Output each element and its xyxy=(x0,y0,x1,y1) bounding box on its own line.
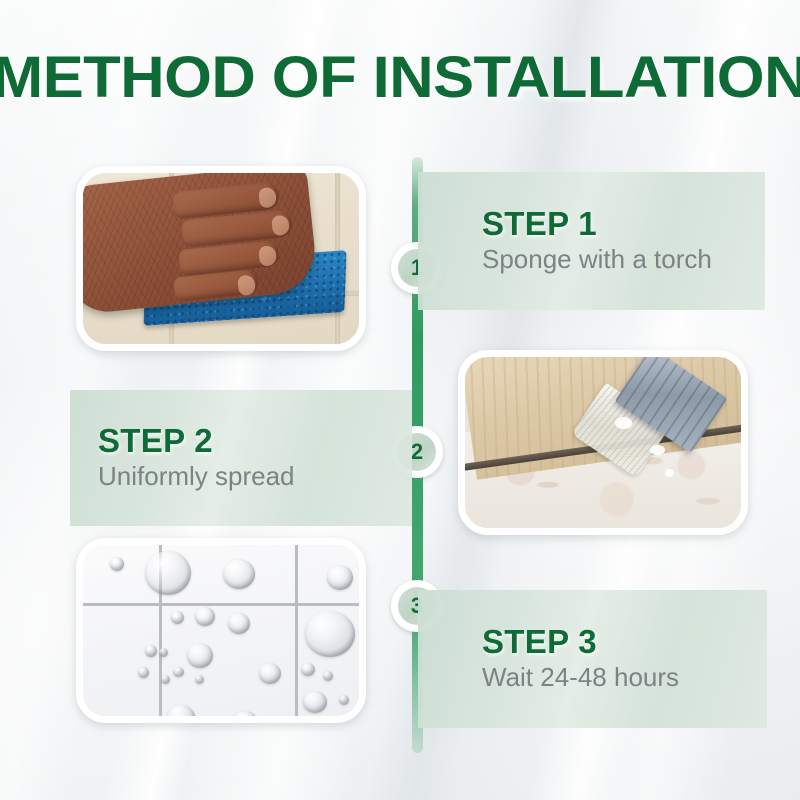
fingernail-middle xyxy=(271,215,290,237)
water-droplet xyxy=(327,565,353,590)
water-droplet xyxy=(159,648,168,657)
step-2-photo xyxy=(458,350,748,535)
step-2-title: STEP 2 xyxy=(98,424,412,459)
step-3-photo xyxy=(76,538,366,723)
step-3-description: Wait 24-48 hours xyxy=(482,663,767,693)
step-1-text-panel: STEP 1 Sponge with a torch xyxy=(418,172,765,310)
step-2-photo-content xyxy=(465,357,741,528)
water-droplet xyxy=(145,645,157,657)
water-droplet xyxy=(339,695,349,705)
step-1-photo-content xyxy=(83,173,359,344)
water-droplet xyxy=(259,663,281,684)
infographic-page: METHOD OF INSTALLATION 1 2 3 STEP 1 Spon… xyxy=(0,0,800,800)
water-droplet xyxy=(187,643,213,668)
marble-grout-horizontal xyxy=(83,603,359,606)
step-2-description: Uniformly spread xyxy=(98,462,412,492)
page-title: METHOD OF INSTALLATION xyxy=(0,44,800,111)
sealant-drip-1 xyxy=(615,417,632,429)
sealant-drip-3 xyxy=(665,469,674,477)
water-droplet xyxy=(228,613,250,634)
step-2-text-panel: STEP 2 Uniformly spread xyxy=(70,390,412,526)
water-droplet xyxy=(167,705,195,723)
water-droplet xyxy=(171,611,184,624)
water-droplet xyxy=(195,675,204,684)
water-droplet xyxy=(195,607,215,626)
water-droplet xyxy=(110,557,124,571)
water-droplet xyxy=(323,671,333,681)
water-droplet xyxy=(161,675,170,684)
step-3-photo-content xyxy=(83,545,359,716)
water-droplet xyxy=(301,663,315,676)
step-3-title: STEP 3 xyxy=(482,625,767,660)
water-droplet xyxy=(305,611,355,657)
fingernail-ring xyxy=(258,245,277,267)
step-1-photo xyxy=(76,166,366,351)
marble-grout-vertical-2 xyxy=(295,545,298,716)
water-droplet xyxy=(173,667,184,677)
water-droplet xyxy=(138,667,149,678)
water-droplet xyxy=(303,691,327,713)
water-droplet xyxy=(223,559,255,589)
step-1-title: STEP 1 xyxy=(482,207,765,242)
step-3-text-panel: STEP 3 Wait 24-48 hours xyxy=(418,590,767,728)
sealant-drip-2 xyxy=(650,445,665,455)
fingernail-index xyxy=(258,187,277,209)
step-1-description: Sponge with a torch xyxy=(482,245,765,275)
water-droplet xyxy=(145,551,191,595)
